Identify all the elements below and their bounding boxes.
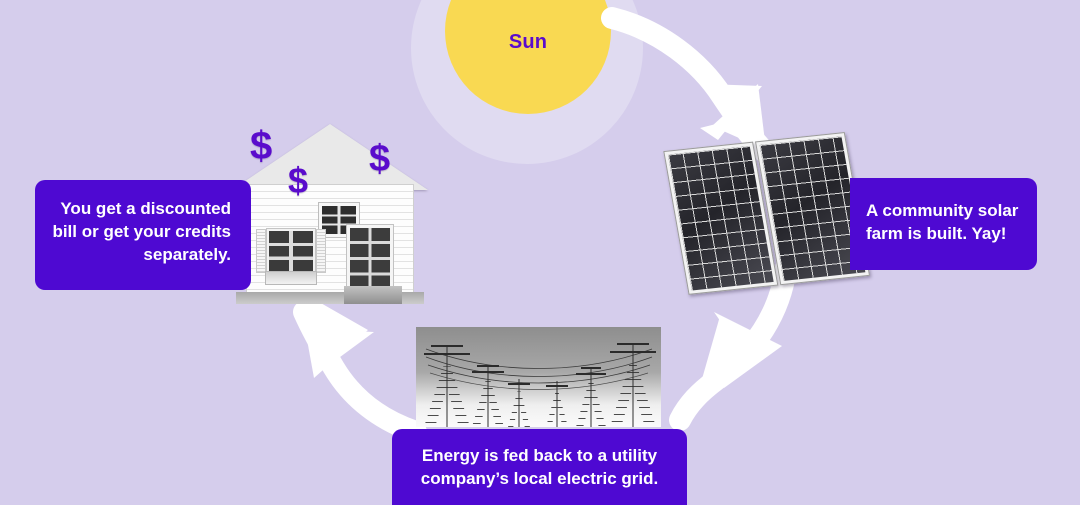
dollar-sign-icon-1: $	[250, 126, 272, 166]
solar-panel-illustration	[676, 140, 866, 290]
house-stoop	[344, 286, 402, 304]
dollar-sign-icon-2: $	[288, 163, 308, 199]
arrow-grid-to-house-icon	[298, 290, 416, 432]
front-door	[347, 225, 393, 291]
window-shutter-right	[316, 229, 326, 273]
callout-house-savings: You get a discounted bill or get your cr…	[35, 180, 251, 290]
callout-solar-farm: A community solar farm is built. Yay!	[850, 178, 1037, 270]
transmission-tower	[472, 365, 504, 427]
dollar-sign-icon-3: $	[369, 140, 390, 178]
window-shutter-left	[256, 229, 266, 273]
front-window	[267, 229, 315, 273]
callout-electric-grid: Energy is fed back to a utility company’…	[392, 429, 687, 505]
transmission-tower	[424, 345, 470, 427]
transmission-tower	[508, 379, 530, 427]
window-flower-box	[265, 271, 317, 285]
transmission-tower	[610, 343, 656, 427]
sun-label: Sun	[509, 31, 547, 54]
solar-cells	[668, 146, 774, 290]
house-body	[246, 184, 414, 294]
transmission-tower	[576, 367, 606, 427]
electric-grid-illustration	[416, 327, 661, 427]
transmission-tower	[546, 381, 568, 427]
infographic-canvas: Sun	[0, 0, 1080, 505]
